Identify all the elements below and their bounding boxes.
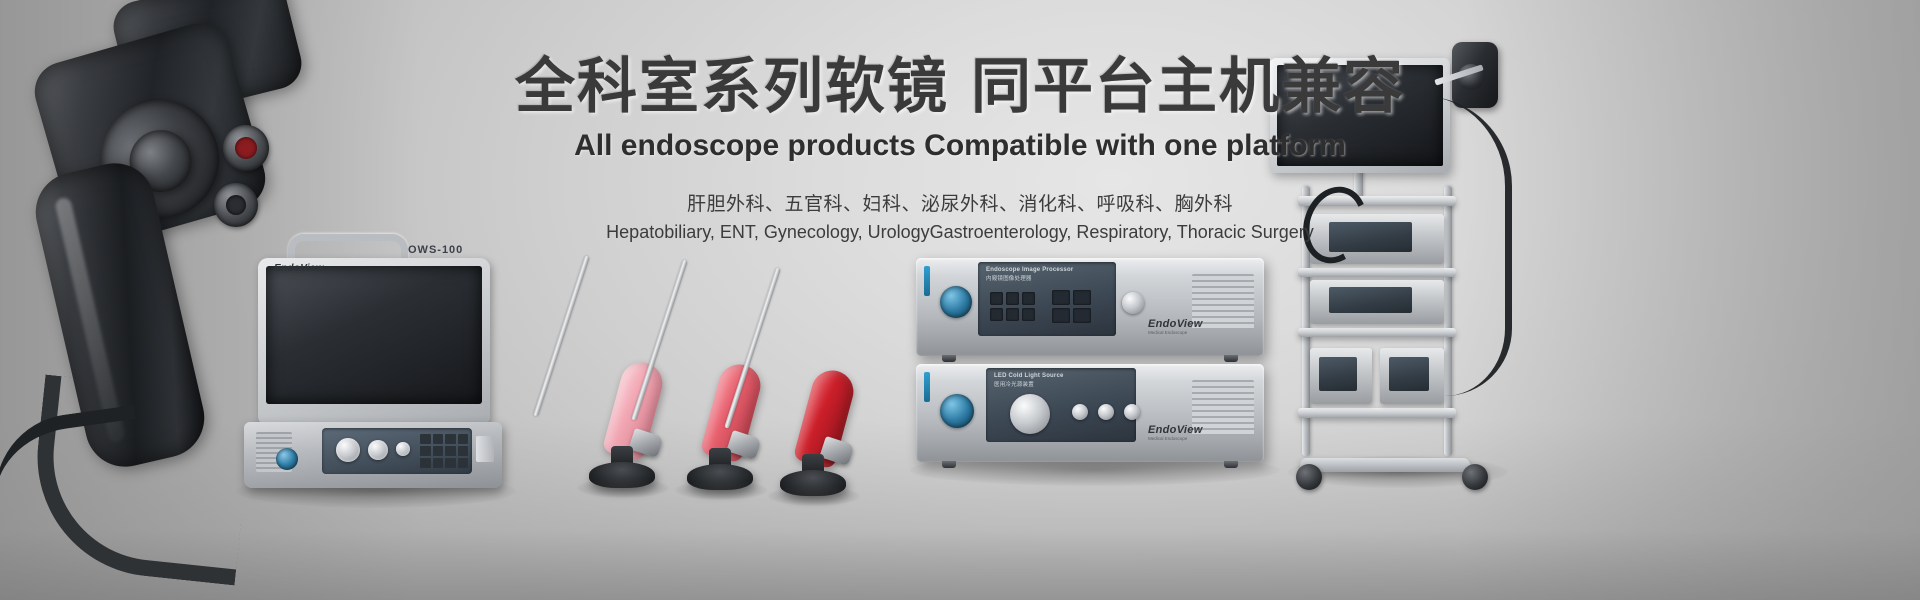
cart-caster-left xyxy=(1296,464,1322,490)
light-source-panel-label: LED Cold Light Source 医用冷光源装置 xyxy=(994,372,1064,389)
cart-device-2-panel xyxy=(1329,287,1412,313)
processor-panel-label: Endoscope Image Processor 内窥镜图像处理器 xyxy=(986,266,1073,283)
list-item xyxy=(700,268,870,518)
processor-keypad xyxy=(990,292,1035,321)
console-display-bezel: EndoView OWS-100 xyxy=(258,258,490,426)
processor-knob xyxy=(1122,292,1144,314)
light-source-button-2 xyxy=(1098,404,1114,420)
light-source-brightness-knob xyxy=(1010,394,1050,434)
processor-accent-stripe xyxy=(924,266,930,296)
console-side-tab xyxy=(476,436,494,462)
specialties-chinese: 肝胆外科、五官科、妇科、泌尿外科、消化科、呼吸科、胸外科 xyxy=(0,189,1920,216)
light-source-brand-label: EndoView Medical Endoscope xyxy=(1148,424,1203,441)
banner-headline: 全科室系列软镜同平台主机兼容 xyxy=(0,52,1920,123)
headline-part-2: 同平台主机兼容 xyxy=(971,53,1405,120)
processor-foot-right xyxy=(1224,355,1238,362)
cart-device-3-panel xyxy=(1319,357,1357,391)
processor-scope-socket xyxy=(940,286,972,318)
processor-brand-label: EndoView Medical Endoscope xyxy=(1148,318,1203,335)
instrument-shaft xyxy=(533,255,590,416)
light-source-output-port xyxy=(940,394,974,428)
processor-function-keys xyxy=(1052,290,1091,323)
console-knob-primary xyxy=(336,438,360,462)
headline-part-1: 全科室系列软镜 xyxy=(515,53,949,120)
instrument-stand xyxy=(780,470,846,496)
console-model-label: OWS-100 xyxy=(408,244,463,256)
cart-caster-right xyxy=(1462,464,1488,490)
light-source-button-1 xyxy=(1072,404,1088,420)
specialties-english: Hepatobiliary, ENT, Gynecology, UrologyG… xyxy=(0,222,1920,243)
console-knob-secondary xyxy=(368,440,388,460)
console-display-screen xyxy=(266,266,482,404)
cart-shelf-4 xyxy=(1298,408,1456,418)
console-keypad xyxy=(420,434,468,468)
light-source-foot-right xyxy=(1224,461,1238,468)
console-brand-label: EndoView xyxy=(274,263,324,274)
processor-stack: Endoscope Image Processor 内窥镜图像处理器 EndoV… xyxy=(916,258,1276,468)
light-source-foot-left xyxy=(942,461,956,468)
product-banner: 全科室系列软镜同平台主机兼容 All endoscope products Co… xyxy=(0,0,1920,600)
console-scope-port xyxy=(276,448,298,470)
light-source-unit: LED Cold Light Source 医用冷光源装置 EndoView M… xyxy=(916,364,1264,462)
image-processor-unit: Endoscope Image Processor 内窥镜图像处理器 EndoV… xyxy=(916,258,1264,356)
instrument-shaft xyxy=(631,259,688,420)
console-knob-tertiary xyxy=(396,442,410,456)
cart-device-3 xyxy=(1310,348,1372,404)
endoscope-workstation-console: EndoView OWS-100 xyxy=(236,234,506,484)
banner-text-block: 全科室系列软镜同平台主机兼容 All endoscope products Co… xyxy=(0,52,1920,243)
console-base-unit xyxy=(244,422,502,488)
light-source-control-panel: LED Cold Light Source 医用冷光源装置 xyxy=(986,368,1136,442)
processor-foot-left xyxy=(942,355,956,362)
banner-subheadline: All endoscope products Compatible with o… xyxy=(0,129,1920,163)
light-source-accent-stripe xyxy=(924,372,930,402)
instrument-shaft xyxy=(724,267,781,428)
light-source-button-3 xyxy=(1124,404,1140,420)
cart-base-frame xyxy=(1300,458,1470,472)
